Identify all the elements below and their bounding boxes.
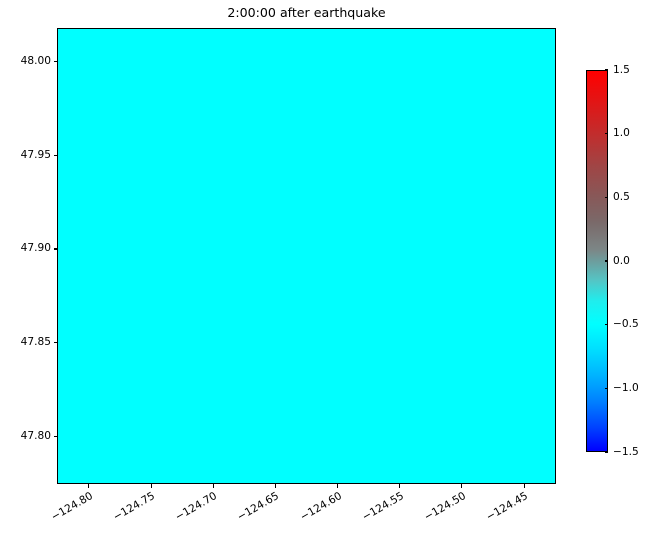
y-axis-ticks: 47.8047.8547.9047.9548.00 (0, 0, 57, 541)
y-tick-label: 47.95 (21, 148, 51, 163)
colorbar-tick-label: −1.5 (613, 445, 639, 460)
colorbar-tick-mark (605, 324, 609, 325)
colorbar-tick-label: 0.5 (613, 190, 630, 205)
x-tick-label: −124.60 (298, 490, 344, 524)
colorbar-tick-mark (605, 197, 609, 198)
y-tick-mark (54, 248, 58, 249)
x-tick-label: −124.75 (111, 490, 157, 524)
x-tick-label: −124.50 (422, 490, 468, 524)
x-tick-mark (337, 484, 338, 488)
y-tick-label: 48.00 (21, 54, 51, 69)
x-tick-mark (88, 484, 89, 488)
heatmap-axes[interactable] (57, 28, 556, 484)
colorbar-tick-mark (605, 451, 609, 452)
y-tick-mark (54, 342, 58, 343)
colorbar-tick-mark (605, 388, 609, 389)
colorbar-tick-label: 1.0 (613, 126, 630, 141)
x-tick-mark (213, 484, 214, 488)
y-tick-mark (54, 436, 58, 437)
x-tick-mark (275, 484, 276, 488)
colorbar-ticks: 1.51.00.50.0−0.5−1.0−1.5 (586, 0, 658, 541)
colorbar-tick-label: 1.5 (613, 63, 630, 78)
x-tick-mark (399, 484, 400, 488)
colorbar-tick-mark (605, 260, 609, 261)
colorbar-tick-label: 0.0 (613, 254, 630, 269)
x-tick-mark (524, 484, 525, 488)
heatmap-surface (58, 29, 555, 483)
x-tick-mark (151, 484, 152, 488)
x-tick-label: −124.55 (360, 490, 406, 524)
matplotlib-figure: 2:00:00 after earthquake 47.8047.8547.90… (0, 0, 658, 541)
x-tick-label: −124.70 (173, 490, 219, 524)
x-tick-mark (461, 484, 462, 488)
colorbar-tick-mark (605, 69, 609, 70)
y-tick-label: 47.80 (21, 429, 51, 444)
colorbar-tick-label: −0.5 (613, 317, 639, 332)
x-tick-label: −124.80 (49, 490, 95, 524)
y-tick-label: 47.85 (21, 335, 51, 350)
page-title: 2:00:00 after earthquake (57, 5, 556, 21)
y-tick-label: 47.90 (21, 241, 51, 256)
y-tick-mark (54, 155, 58, 156)
colorbar-tick-mark (605, 133, 609, 134)
colorbar-tick-label: −1.0 (613, 381, 639, 396)
x-tick-label: −124.65 (236, 490, 282, 524)
x-axis-ticks: −124.80−124.75−124.70−124.65−124.60−124.… (0, 484, 658, 541)
x-tick-label: −124.45 (484, 490, 530, 524)
y-tick-mark (54, 61, 58, 62)
